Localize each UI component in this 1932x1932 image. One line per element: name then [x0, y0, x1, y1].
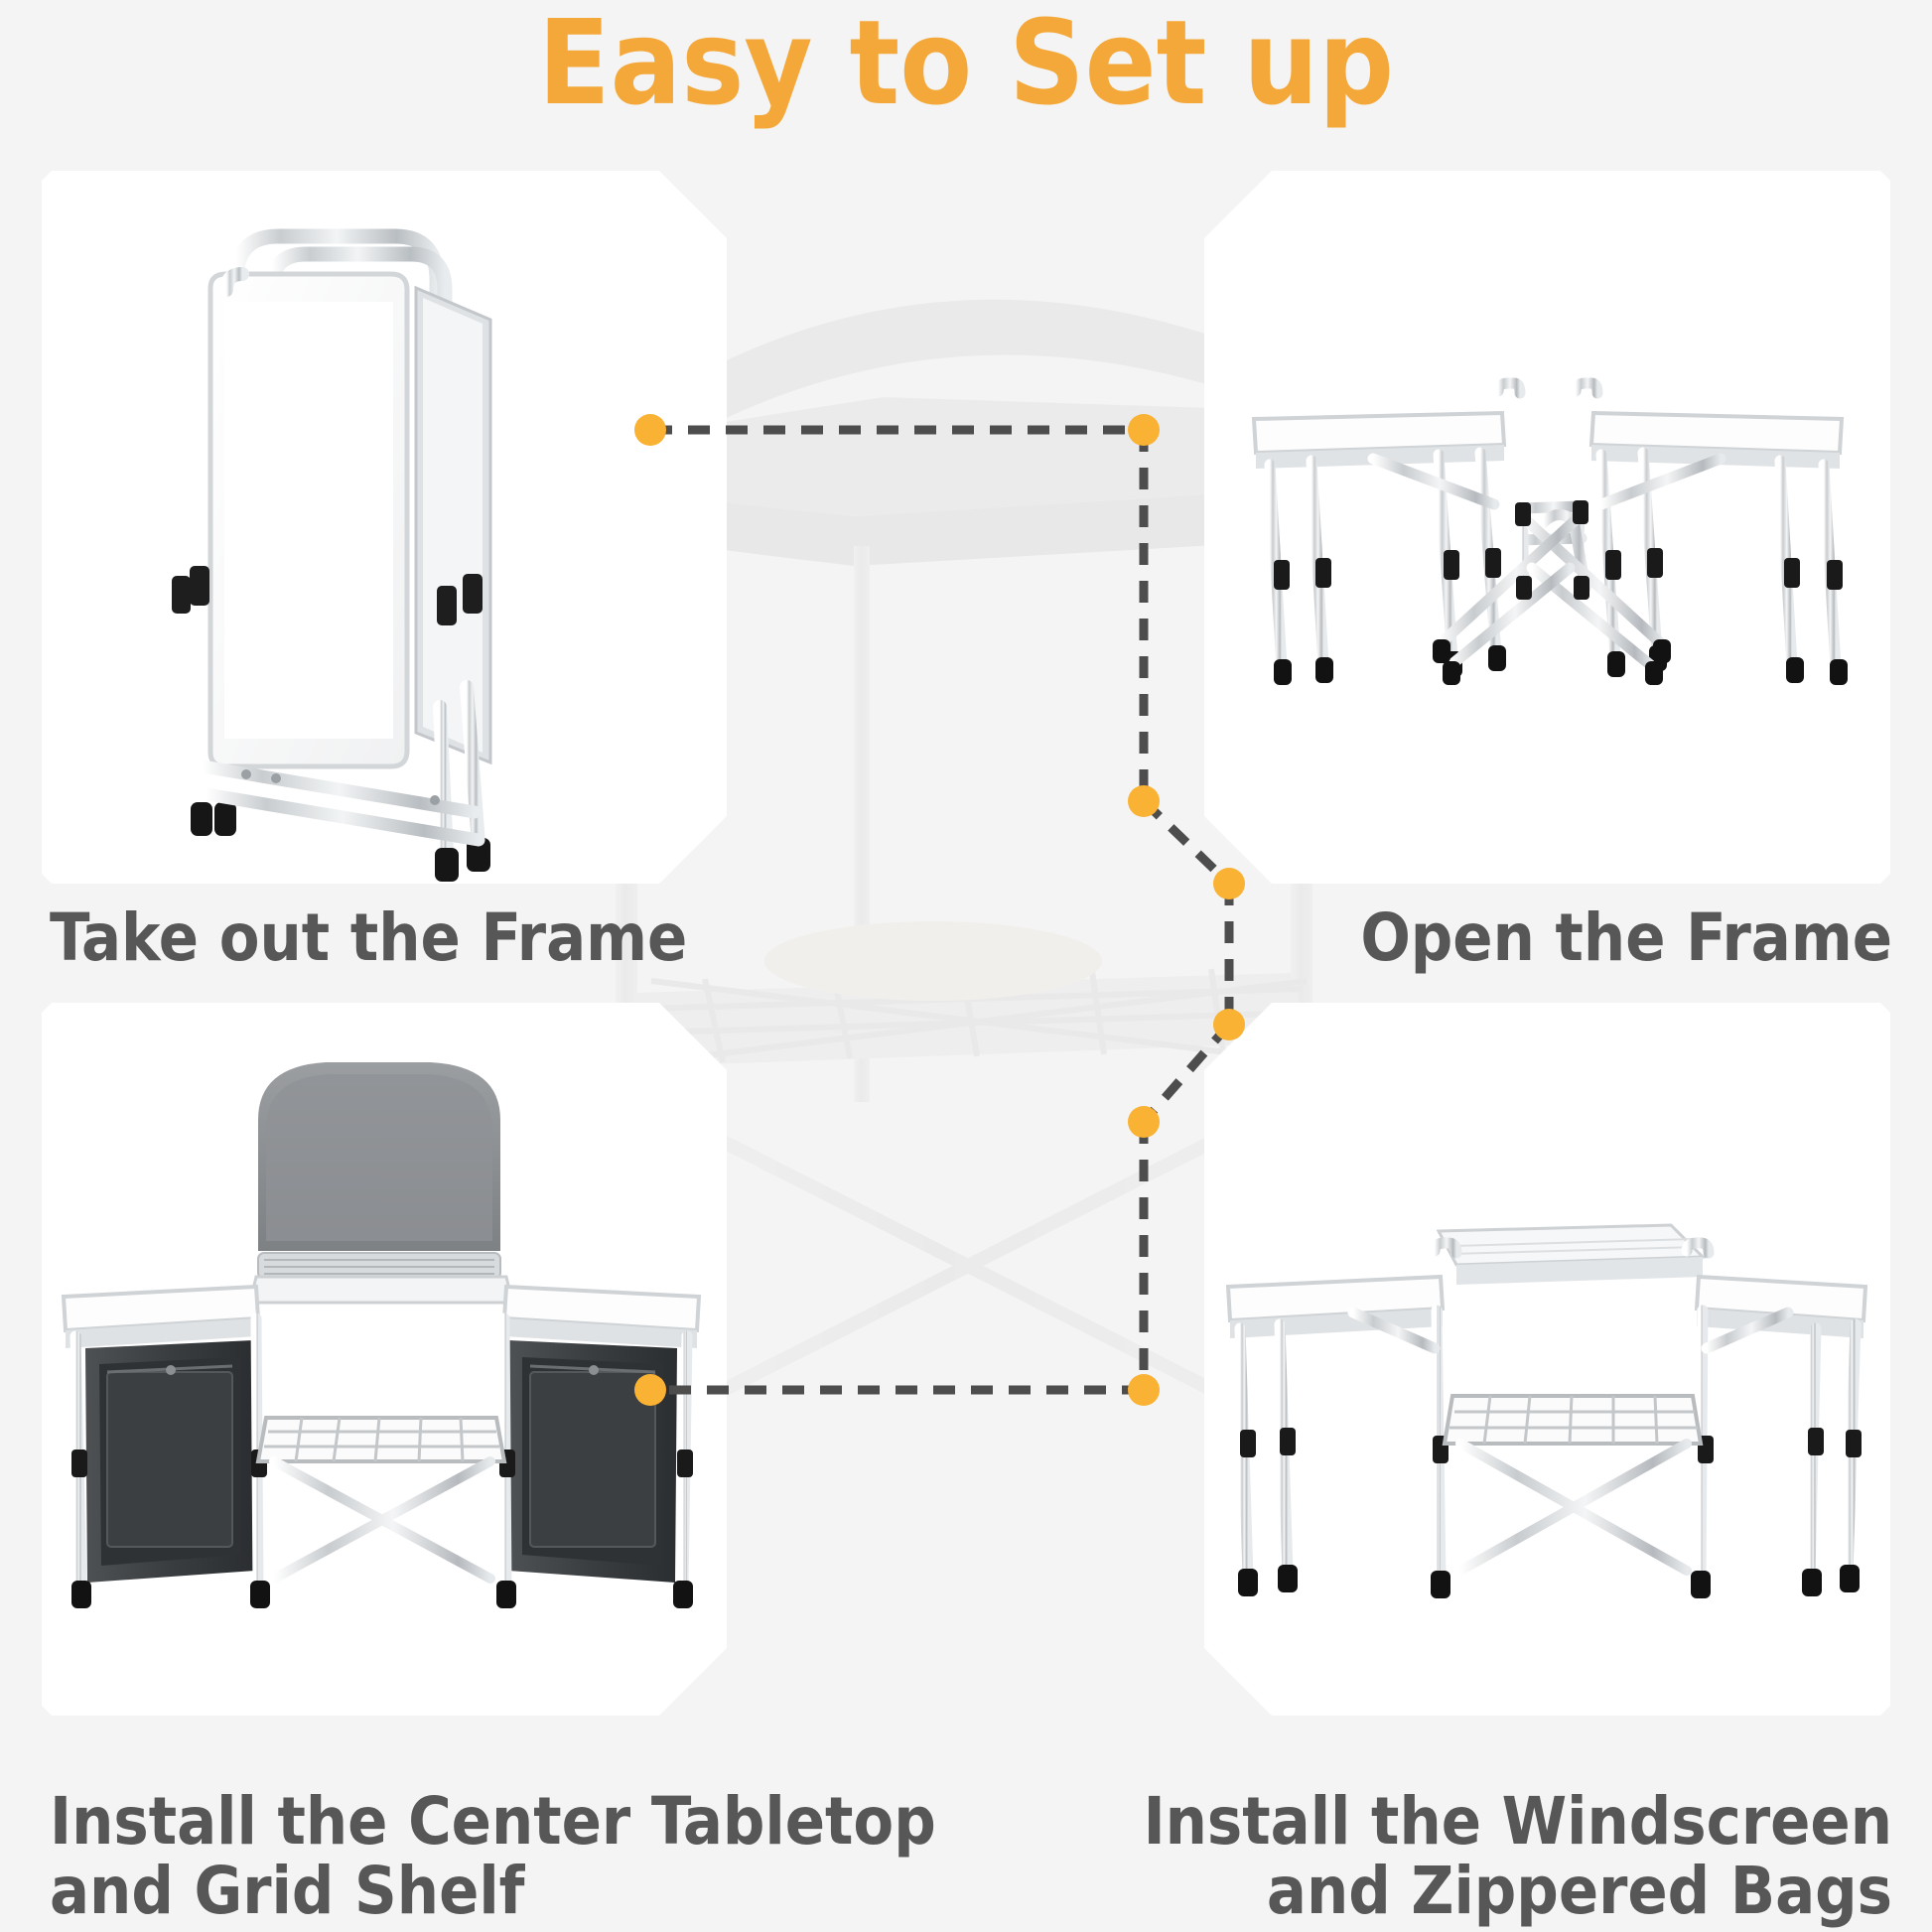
step-card-4: [1204, 1003, 1890, 1716]
step-3-image: [42, 1003, 727, 1716]
step-1-caption: Take out the Frame: [50, 903, 804, 973]
flow-dot-corner-top: [1128, 414, 1160, 446]
flow-dot-mid-lower: [1128, 1106, 1160, 1138]
step-card-1: [42, 171, 727, 884]
page-title: Easy to Set up: [0, 4, 1932, 121]
step-4-image: [1204, 1003, 1890, 1716]
flow-dot-corner-bottom: [1128, 1374, 1160, 1406]
flow-dot-jog-right: [1213, 868, 1245, 899]
step-card-3: [42, 1003, 727, 1716]
step-3-caption: Install the Center Tabletop and Grid She…: [50, 1787, 943, 1926]
step-1-image: [42, 171, 727, 884]
step-card-2: [1204, 171, 1890, 884]
flow-dot-mid-upper: [1128, 785, 1160, 817]
step-2-caption: Open the Frame: [1082, 903, 1892, 973]
step-4-caption: Install the Windscreen and Zippered Bags: [1003, 1787, 1892, 1926]
step-2-image: [1204, 171, 1890, 884]
